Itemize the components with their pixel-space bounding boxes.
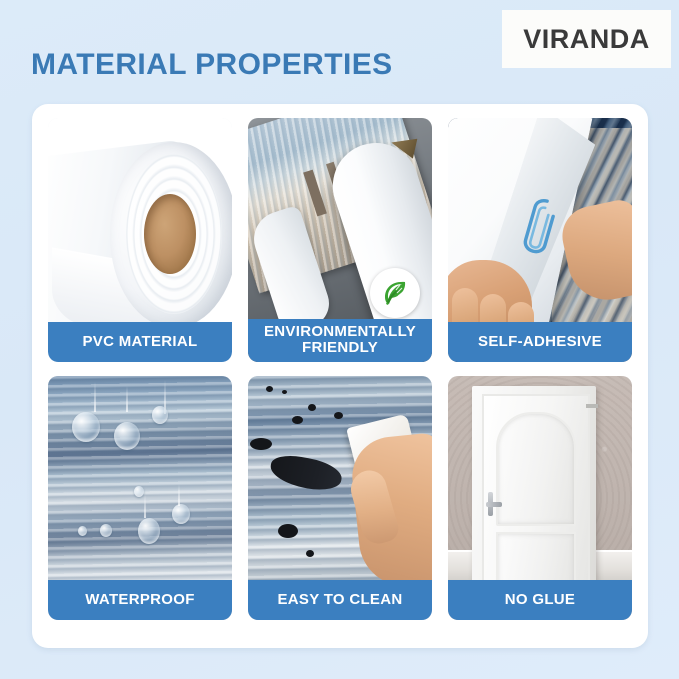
feature-label-easy-to-clean: EASY TO CLEAN <box>248 580 432 620</box>
feature-label-environmentally-friendly: ENVIRONMENTALLY FRIENDLY <box>248 319 432 362</box>
feature-label-waterproof: WATERPROOF <box>48 580 232 620</box>
feature-card-no-glue[interactable]: NO GLUE <box>448 376 632 620</box>
feature-card-environmentally-friendly[interactable]: ENVIRONMENTALLY FRIENDLY <box>248 118 432 362</box>
feature-label-no-glue: NO GLUE <box>448 580 632 620</box>
brand-logo: VIRANDA <box>502 10 671 68</box>
brand-name: VIRANDA <box>523 24 650 55</box>
feature-label-pvc-material: PVC MATERIAL <box>48 322 232 362</box>
feature-card-waterproof[interactable]: WATERPROOF <box>48 376 232 620</box>
leaf-icon <box>370 268 420 318</box>
feature-card-pvc-material[interactable]: PVC MATERIAL <box>48 118 232 362</box>
feature-card-easy-to-clean[interactable]: EASY TO CLEAN <box>248 376 432 620</box>
feature-label-self-adhesive: SELF-ADHESIVE <box>448 322 632 362</box>
feature-card-self-adhesive[interactable]: SELF-ADHESIVE <box>448 118 632 362</box>
page-title: MATERIAL PROPERTIES <box>31 48 393 82</box>
feature-grid: PVC MATERIAL ENVIRONMENTALLY FRIENDLY <box>48 118 632 634</box>
